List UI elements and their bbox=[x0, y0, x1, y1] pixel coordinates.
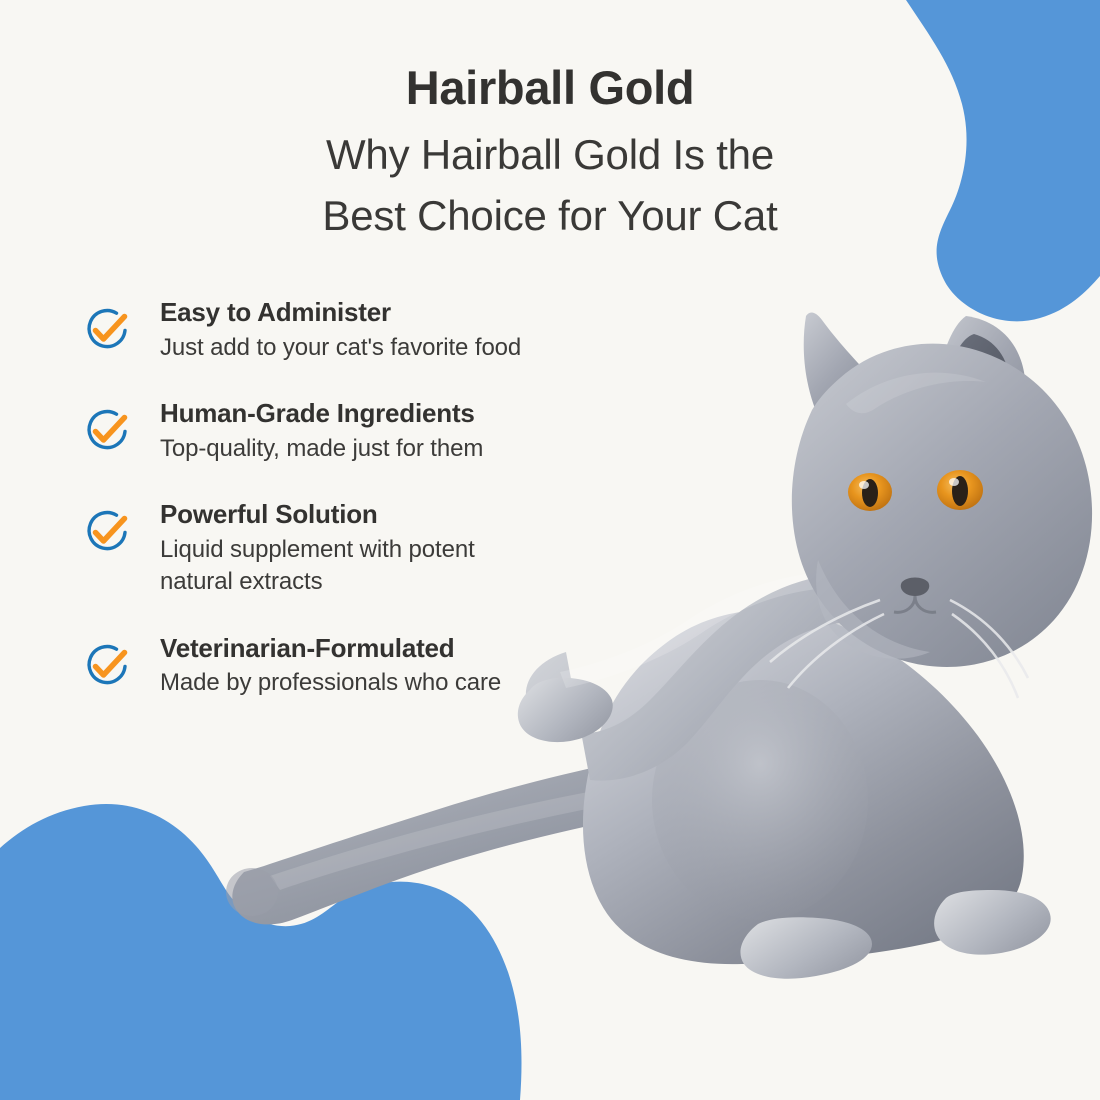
feature-title: Powerful Solution bbox=[160, 499, 642, 530]
feature-desc-line: Just add to your cat's favorite food bbox=[160, 332, 642, 364]
feature-desc-line: Liquid supplement with potent bbox=[160, 534, 642, 566]
circle-check-icon bbox=[82, 305, 132, 355]
feature-title: Veterinarian-Formulated bbox=[160, 633, 642, 664]
feature-description: Liquid supplement with potent natural ex… bbox=[160, 534, 642, 599]
feature-title: Human-Grade Ingredients bbox=[160, 398, 642, 429]
feature-desc-line: Made by professionals who care bbox=[160, 667, 642, 699]
feature-description: Just add to your cat's favorite food bbox=[160, 332, 642, 364]
header-block: Hairball Gold Why Hairball Gold Is the B… bbox=[0, 62, 1100, 247]
feature-description: Made by professionals who care bbox=[160, 667, 642, 699]
subtitle-line-2: Best Choice for Your Cat bbox=[0, 185, 1100, 247]
poster-root: Hairball Gold Why Hairball Gold Is the B… bbox=[0, 0, 1100, 1100]
subtitle-line-1: Why Hairball Gold Is the bbox=[0, 124, 1100, 186]
feature-description: Top-quality, made just for them bbox=[160, 433, 642, 465]
feature-title: Easy to Administer bbox=[160, 297, 642, 328]
feature-item-veterinarian-formulated: Veterinarian-Formulated Made by professi… bbox=[82, 633, 642, 700]
circle-check-icon bbox=[82, 641, 132, 691]
feature-desc-line: natural extracts bbox=[160, 566, 642, 598]
feature-desc-line: Top-quality, made just for them bbox=[160, 433, 642, 465]
page-title: Hairball Gold bbox=[0, 62, 1100, 115]
feature-item-human-grade-ingredients: Human-Grade Ingredients Top-quality, mad… bbox=[82, 398, 642, 465]
feature-item-powerful-solution: Powerful Solution Liquid supplement with… bbox=[82, 499, 642, 598]
feature-list: Easy to Administer Just add to your cat'… bbox=[82, 297, 642, 700]
poster-content: Hairball Gold Why Hairball Gold Is the B… bbox=[0, 0, 1100, 1100]
circle-check-icon bbox=[82, 406, 132, 456]
circle-check-icon bbox=[82, 507, 132, 557]
feature-item-easy-to-administer: Easy to Administer Just add to your cat'… bbox=[82, 297, 642, 364]
page-subtitle: Why Hairball Gold Is the Best Choice for… bbox=[0, 124, 1100, 247]
